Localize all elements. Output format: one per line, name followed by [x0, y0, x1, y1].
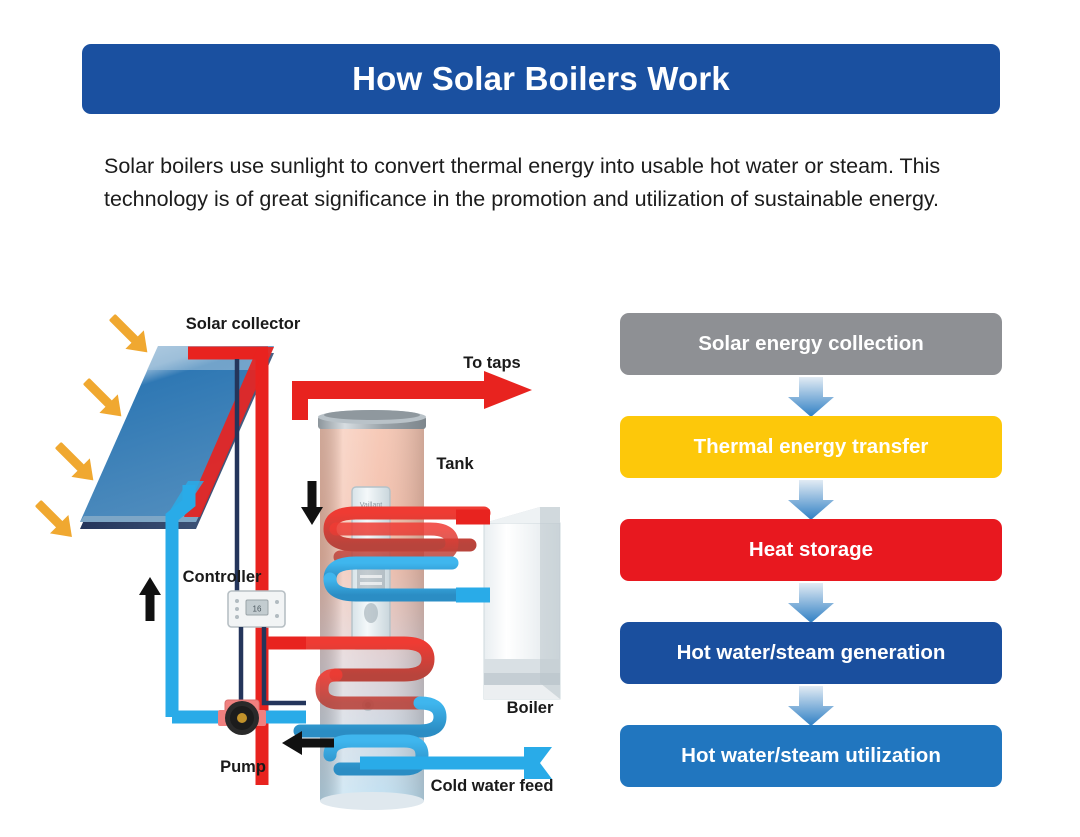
page-title: How Solar Boilers Work [352, 60, 730, 98]
flow-step-label: Solar energy collection [698, 332, 924, 356]
label-solar-collector: Solar collector [186, 315, 301, 333]
flow-arrow-4 [788, 686, 834, 726]
label-pump: Pump [220, 758, 266, 776]
flow-step-solar-energy-collection[interactable]: Solar energy collection [620, 313, 1002, 375]
boiler-unit [484, 507, 560, 699]
label-to-taps: To taps [463, 354, 520, 372]
page-title-bar: How Solar Boilers Work [82, 44, 1000, 114]
flow-step-thermal-energy-transfer[interactable]: Thermal energy transfer [620, 416, 1002, 478]
flow-step-label: Hot water/steam generation [677, 641, 946, 665]
label-boiler: Boiler [507, 699, 554, 717]
flow-step-label: Heat storage [749, 538, 873, 562]
flow-arrow-1 [788, 377, 834, 417]
down-flow-arrow-icon [301, 481, 323, 525]
process-flowchart: Solar energy collection Thermal energy t… [620, 313, 1002, 788]
flow-step-label: Hot water/steam utilization [681, 744, 941, 768]
flow-step-heat-storage[interactable]: Heat storage [620, 519, 1002, 581]
label-controller: Controller [183, 568, 262, 586]
flow-step-label: Thermal energy transfer [694, 435, 929, 459]
svg-text:16: 16 [253, 605, 262, 614]
flow-step-hot-water-steam-utilization[interactable]: Hot water/steam utilization [620, 725, 1002, 787]
label-cold-water-feed: Cold water feed [431, 777, 554, 795]
up-flow-arrow-icon [139, 577, 161, 621]
label-tank: Tank [436, 455, 474, 473]
flow-arrow-2 [788, 480, 834, 520]
controller-icon: 16 [228, 591, 285, 627]
solar-boiler-schematic: Vaillant [0, 285, 610, 837]
flow-arrow-3 [788, 583, 834, 623]
flow-step-hot-water-steam-generation[interactable]: Hot water/steam generation [620, 622, 1002, 684]
intro-paragraph: Solar boilers use sunlight to convert th… [104, 150, 1004, 216]
